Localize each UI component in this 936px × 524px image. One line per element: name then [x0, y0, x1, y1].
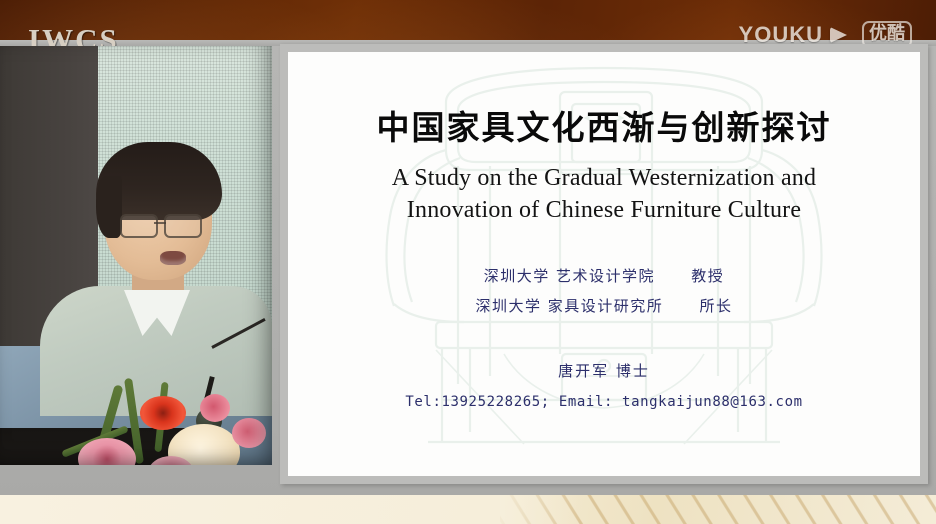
presentation-slide: 中国家具文化西渐与创新探讨 A Study on the Gradual Wes…	[288, 52, 920, 476]
affiliation-row: 深圳大学 家具设计研究所 所长	[288, 291, 920, 322]
affiliation-org: 深圳大学 家具设计研究所	[475, 297, 663, 315]
play-arrow-icon	[830, 26, 855, 44]
slide-title-english: A Study on the Gradual Westernization an…	[288, 163, 920, 226]
slide-title-english-line2: Innovation of Chinese Furniture Culture	[288, 195, 920, 227]
slide-title-chinese: 中国家具文化西渐与创新探讨	[288, 110, 920, 146]
slide-content: 中国家具文化西渐与创新探讨 A Study on the Gradual Wes…	[288, 52, 920, 410]
affiliation-block: 深圳大学 艺术设计学院 教授 深圳大学 家具设计研究所 所长	[288, 261, 920, 323]
speaker-photo	[0, 46, 272, 465]
slide-title-english-line1: A Study on the Gradual Westernization an…	[288, 163, 920, 195]
video-player-frame: IWCS YOUKU 优酷	[0, 0, 936, 524]
photo-vignette	[0, 46, 272, 465]
footer-band-left	[0, 495, 500, 524]
affiliation-org: 深圳大学 艺术设计学院	[484, 267, 655, 285]
speaker-name: 唐开军 博士	[288, 360, 920, 381]
affiliation-role: 教授	[691, 261, 724, 292]
affiliation-row: 深圳大学 艺术设计学院 教授	[288, 261, 920, 292]
affiliation-role: 所长	[700, 291, 733, 322]
contact-line: Tel:13925228265; Email: tangkaijun88@163…	[288, 394, 920, 410]
